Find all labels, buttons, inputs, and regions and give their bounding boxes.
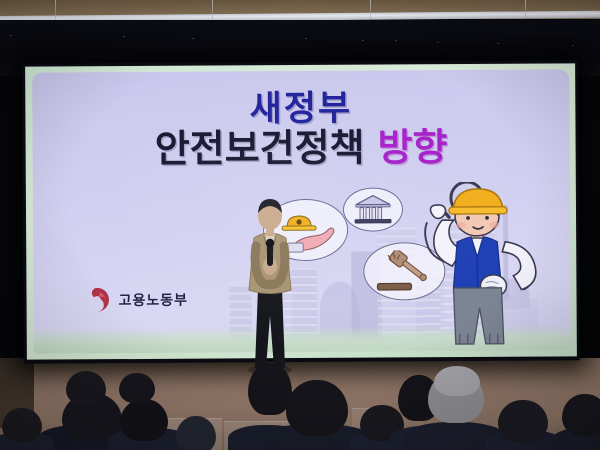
ministry-logo: 고용노동부 xyxy=(83,286,188,314)
slide-title-line1: 새정부 xyxy=(32,89,569,127)
audience-head xyxy=(119,373,155,403)
slide-title-line2-main: 안전보건정책 xyxy=(155,128,365,171)
ceiling-wire xyxy=(370,0,371,19)
auditorium-scene: 새정부 안전보건정책방향 xyxy=(0,0,600,450)
ceiling-speck xyxy=(437,42,439,43)
speaker-on-stage xyxy=(240,196,300,374)
slide-title-line2: 안전보건정책방향 xyxy=(33,128,570,169)
construction-worker-illustration xyxy=(405,181,558,352)
government-building-icon xyxy=(353,193,393,225)
ceiling-wire xyxy=(212,0,213,19)
ceiling-speck xyxy=(497,43,499,44)
ceiling-speck xyxy=(10,35,12,36)
ceiling-wire xyxy=(525,0,526,19)
audience-head xyxy=(434,366,480,396)
slide-title-block: 새정부 안전보건정책방향 xyxy=(32,89,569,169)
audience-head xyxy=(176,416,216,450)
ceiling-wire xyxy=(55,0,56,19)
ceiling-speck xyxy=(192,38,194,39)
audience-head xyxy=(286,380,348,436)
presentation-slide: 새정부 안전보건정책방향 xyxy=(32,69,571,353)
ministry-logo-label: 고용노동부 xyxy=(118,289,188,309)
ceiling-speck xyxy=(362,40,364,41)
ceiling-speck xyxy=(395,40,397,41)
slide-title-line2-highlight: 방향 xyxy=(377,127,447,169)
audience-head xyxy=(66,371,106,405)
korean-government-taegeuk-symbol xyxy=(83,286,110,313)
ceiling-speck xyxy=(305,38,307,39)
audience-head xyxy=(498,400,548,442)
audience-head xyxy=(2,408,42,442)
ceiling-speck xyxy=(572,45,574,46)
audience-head xyxy=(562,394,600,436)
audience-head xyxy=(120,399,168,441)
ceiling-speck xyxy=(123,36,125,37)
